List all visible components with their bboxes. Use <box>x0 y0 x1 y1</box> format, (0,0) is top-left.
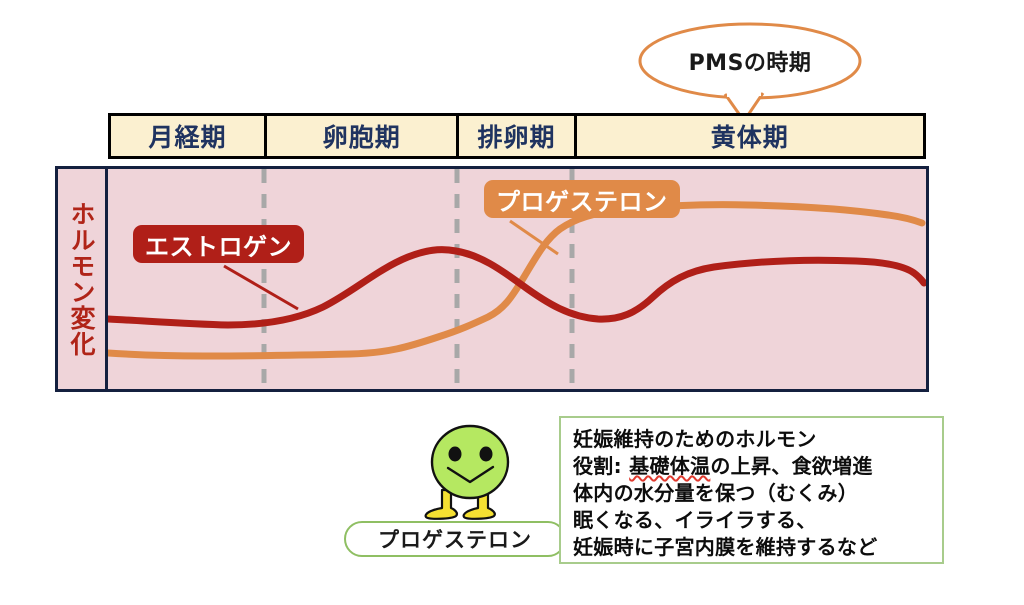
pms-callout: PMSの時期 <box>637 22 863 100</box>
phase-cell-menstrual: 月経期 <box>111 116 264 156</box>
y-axis-label: ホルモン変化 <box>68 201 95 357</box>
phase-cell-luteal: 黄体期 <box>577 116 923 156</box>
estrogen-label-badge: エストロゲン <box>133 225 304 263</box>
phase-header-band: 月経期 卵胞期 排卵期 黄体期 <box>108 113 926 159</box>
phase-cell-ovulation: 排卵期 <box>459 116 573 156</box>
description-line: 役割: 基礎体温の上昇、食欲増進 <box>573 453 936 480</box>
description-line: 妊娠維持のためのホルモン <box>573 426 936 453</box>
spellcheck-underline: 基礎体温 <box>629 454 710 478</box>
pms-callout-label: PMSの時期 <box>637 22 863 100</box>
estrogen-leader-line <box>224 266 298 309</box>
progesterone-label-badge: プロゲステロン <box>484 180 680 218</box>
description-line: 体内の水分量を保つ（むくみ） <box>573 480 936 507</box>
description-line: 眠くなる、イライラする、 <box>573 507 936 534</box>
mascot-figure-icon <box>418 424 538 524</box>
mascot-name-pill: プロゲステロン <box>344 521 566 557</box>
description-line: 妊娠時に子宮内膜を維持するなど <box>573 534 936 561</box>
progesterone-description-box: 妊娠維持のためのホルモン 役割: 基礎体温の上昇、食欲増進 体内の水分量を保つ（… <box>559 416 944 564</box>
progesterone-mascot <box>418 424 538 524</box>
phase-cell-follicular: 卵胞期 <box>267 116 456 156</box>
y-axis-label-box: ホルモン変化 <box>55 166 108 392</box>
